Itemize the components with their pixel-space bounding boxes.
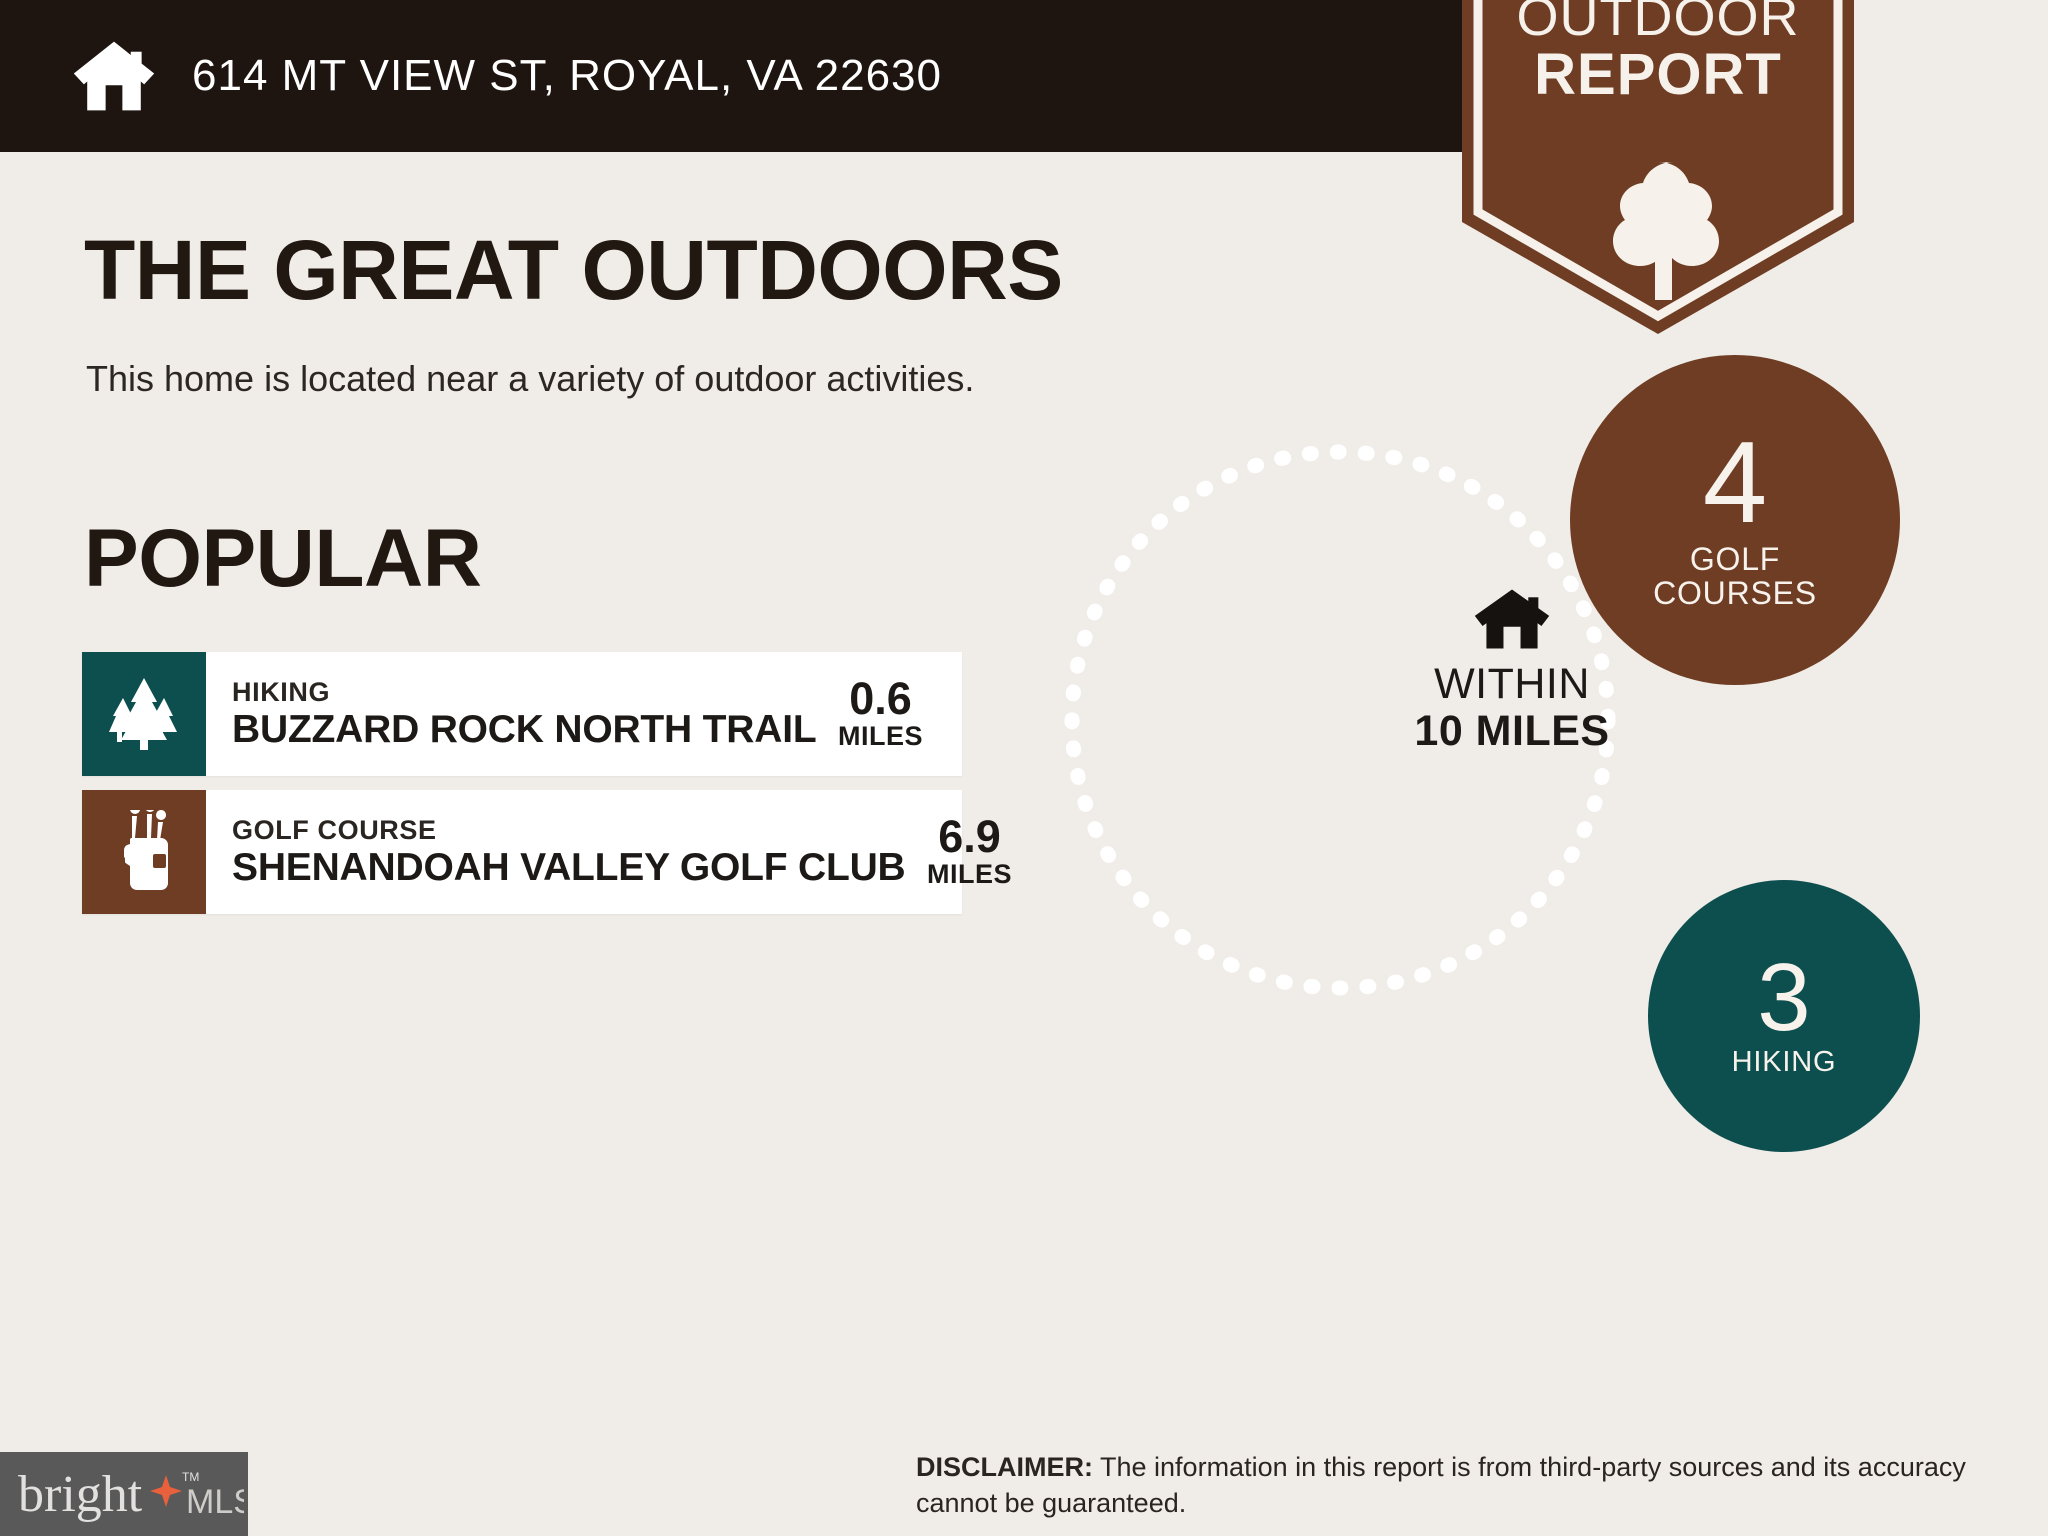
section-title-popular: POPULAR (84, 512, 481, 606)
list-item-name: BUZZARD ROCK NORTH TRAIL (232, 708, 816, 752)
header-bar: 614 MT VIEW ST, ROYAL, VA 22630 (0, 0, 1462, 152)
proximity-infographic: WITHIN 10 MILES 4 GOLF COURSES 3 HIKING (1060, 440, 1760, 1180)
list-item-body: HIKING BUZZARD ROCK NORTH TRAIL (206, 652, 816, 776)
radius-text: 10 MILES (1372, 707, 1652, 755)
home-icon (1473, 588, 1551, 650)
within-text: WITHIN (1372, 662, 1652, 707)
stat-bubble-hiking[interactable]: 3 HIKING (1648, 880, 1920, 1152)
stat-label: HIKING (1732, 1047, 1837, 1078)
list-item[interactable]: GOLF COURSE SHENANDOAH VALLEY GOLF CLUB … (82, 790, 962, 914)
stat-label-line-1: GOLF (1690, 541, 1780, 577)
outdoor-report-badge: OUTDOOR REPORT (1462, 0, 1854, 334)
bright-mls-logo: bright TM MLS (0, 1452, 248, 1536)
golf-bag-icon (113, 810, 175, 894)
list-item-category: GOLF COURSE (232, 815, 906, 846)
list-item-distance: 6.9 MILES (906, 790, 1052, 914)
stat-count: 4 (1703, 429, 1768, 536)
list-item-category: HIKING (232, 677, 816, 708)
svg-text:MLS: MLS (186, 1483, 244, 1521)
distance-unit: MILES (927, 859, 1012, 890)
distance-value: 0.6 (849, 676, 912, 722)
hiking-tile (82, 652, 206, 776)
svg-text:bright: bright (18, 1466, 143, 1523)
list-item-body: GOLF COURSE SHENANDOAH VALLEY GOLF CLUB (206, 790, 906, 914)
distance-value: 6.9 (938, 814, 1001, 860)
home-icon (72, 40, 156, 112)
svg-text:TM: TM (182, 1470, 199, 1484)
bright-mls-logo-mark: bright TM MLS (16, 1461, 244, 1527)
page-subtitle: This home is located near a variety of o… (86, 358, 974, 400)
list-item-distance: 0.6 MILES (816, 652, 962, 776)
stat-label-line-2: COURSES (1653, 575, 1817, 611)
golf-tile (82, 790, 206, 914)
pine-trees-icon (107, 676, 181, 752)
stat-bubble-golf-courses[interactable]: 4 GOLF COURSES (1570, 355, 1900, 685)
property-address: 614 MT VIEW ST, ROYAL, VA 22630 (192, 51, 942, 101)
outdoor-report-page: 614 MT VIEW ST, ROYAL, VA 22630 OUTDOOR … (0, 0, 2048, 1536)
distance-unit: MILES (838, 721, 923, 752)
popular-list: HIKING BUZZARD ROCK NORTH TRAIL 0.6 MILE… (82, 652, 962, 928)
badge-shield-shape (1462, 0, 1854, 334)
page-title: THE GREAT OUTDOORS (84, 222, 1063, 319)
stat-count: 3 (1757, 954, 1810, 1042)
list-item-name: SHENANDOAH VALLEY GOLF CLUB (232, 846, 906, 890)
stat-label: GOLF COURSES (1653, 542, 1817, 611)
list-item[interactable]: HIKING BUZZARD ROCK NORTH TRAIL 0.6 MILE… (82, 652, 962, 776)
disclaimer-label: DISCLAIMER: (916, 1452, 1093, 1482)
disclaimer: DISCLAIMER: The information in this repo… (916, 1450, 2026, 1521)
